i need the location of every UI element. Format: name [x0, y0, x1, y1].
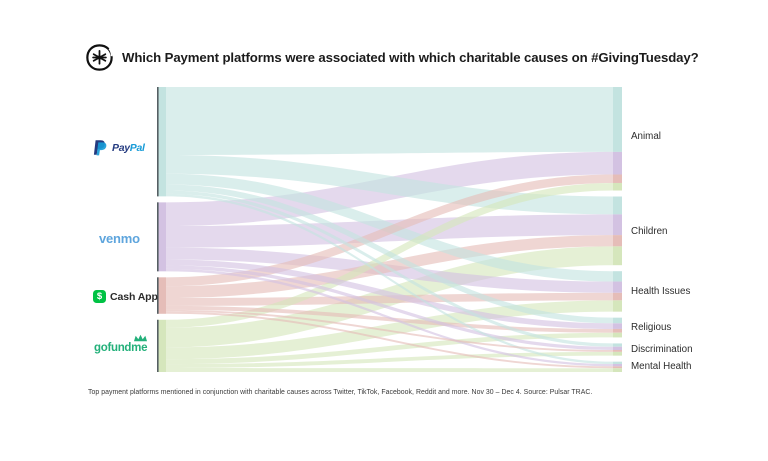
- target-node-health-segment-cashapp[interactable]: [613, 293, 622, 301]
- source-node-group: [157, 87, 166, 372]
- target-node-mental-segment-venmo[interactable]: [613, 364, 622, 366]
- chart-footnote: Top payment platforms mentioned in conju…: [88, 389, 592, 396]
- paypal-double-p-icon: [93, 139, 108, 156]
- target-node-religious-segment-paypal[interactable]: [613, 318, 622, 324]
- sankey-link-gofundme-to-mental[interactable]: [166, 368, 613, 372]
- target-node-children-segment-cashapp[interactable]: [613, 235, 622, 246]
- source-node-edge-gofundme: [157, 320, 159, 372]
- source-node-edge-paypal: [157, 87, 159, 196]
- cause-label-children[interactable]: Children: [631, 226, 668, 237]
- target-node-animal-segment-paypal[interactable]: [613, 87, 622, 152]
- target-node-animal-segment-cashapp[interactable]: [613, 175, 622, 183]
- target-node-animal-segment-venmo[interactable]: [613, 152, 622, 175]
- target-node-discrimination-segment-cashapp[interactable]: [613, 350, 622, 352]
- cause-label-mental[interactable]: Mental Health: [631, 361, 691, 372]
- cause-label-religious[interactable]: Religious: [631, 322, 671, 333]
- target-node-children-segment-venmo[interactable]: [613, 214, 622, 235]
- cash-app-wordmark: Cash App: [110, 291, 158, 303]
- target-node-group: [613, 87, 622, 372]
- platform-logo-cashapp[interactable]: $ Cash App: [93, 290, 158, 303]
- gofundme-crown-icon: [133, 334, 148, 342]
- source-node-edge-venmo: [157, 202, 159, 271]
- target-node-religious-segment-cashapp[interactable]: [613, 329, 622, 333]
- target-node-animal-segment-gofundme[interactable]: [613, 183, 622, 191]
- target-node-health-segment-venmo[interactable]: [613, 282, 622, 293]
- target-node-mental-segment-cashapp[interactable]: [613, 366, 622, 368]
- cause-label-animal[interactable]: Animal: [631, 131, 661, 142]
- target-node-religious-segment-venmo[interactable]: [613, 323, 622, 329]
- target-node-mental-segment-paypal[interactable]: [613, 362, 622, 364]
- target-node-discrimination-segment-paypal[interactable]: [613, 343, 622, 346]
- target-node-health-segment-gofundme[interactable]: [613, 300, 622, 311]
- platform-logo-paypal[interactable]: PayPal: [93, 139, 145, 156]
- platform-logo-venmo[interactable]: venmo: [99, 231, 140, 246]
- target-node-discrimination-segment-gofundme[interactable]: [613, 352, 622, 356]
- target-node-children-segment-gofundme[interactable]: [613, 246, 622, 265]
- target-node-religious-segment-gofundme[interactable]: [613, 333, 622, 338]
- cause-label-discrimination[interactable]: Discrimination: [631, 344, 693, 355]
- sankey-link-paypal-to-animal[interactable]: [166, 87, 613, 155]
- gofundme-wordmark: gofundme: [94, 342, 147, 354]
- target-node-health-segment-paypal[interactable]: [613, 271, 622, 281]
- venmo-wordmark: venmo: [99, 231, 140, 246]
- target-node-mental-segment-gofundme[interactable]: [613, 368, 622, 372]
- paypal-wordmark-pay: Pay: [112, 142, 130, 154]
- platform-logo-gofundme[interactable]: gofundme: [94, 342, 147, 354]
- cause-label-health[interactable]: Health Issues: [631, 286, 690, 297]
- paypal-wordmark-pal: Pal: [130, 142, 145, 154]
- target-node-discrimination-segment-venmo[interactable]: [613, 347, 622, 350]
- chart-canvas: Which Payment platforms were associated …: [0, 0, 768, 461]
- cash-app-dollar-icon: $: [93, 290, 106, 303]
- target-node-children-segment-paypal[interactable]: [613, 197, 622, 215]
- sankey-link-group: [166, 87, 613, 372]
